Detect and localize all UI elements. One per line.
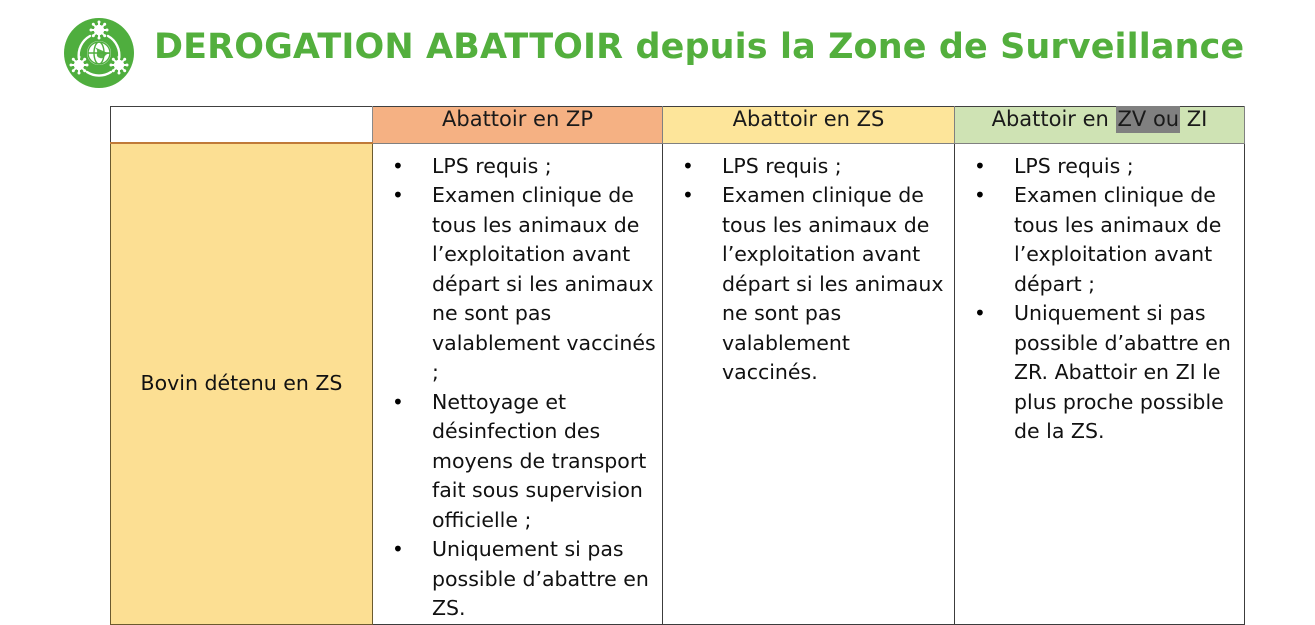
virus-globe-icon: [63, 17, 135, 89]
list-item: Examen clinique de tous les animaux de l…: [373, 181, 656, 388]
list-item: LPS requis ;: [955, 152, 1238, 182]
derogation-table-wrapper: Abattoir en ZP Abattoir en ZS Abattoir e…: [110, 106, 1244, 584]
header-cell-zs: Abattoir en ZS: [663, 107, 955, 144]
list-item: Examen clinique de tous les animaux de l…: [955, 181, 1238, 299]
list-item: Uniquement si pas possible d’abattre en …: [373, 535, 656, 624]
bullet-list-zs: LPS requis ; Examen clinique de tous les…: [663, 152, 954, 388]
list-item: LPS requis ;: [373, 152, 656, 182]
header-cell-zv-zi: Abattoir en ZV ou ZI: [955, 107, 1245, 144]
page-title: DEROGATION ABATTOIR depuis la Zone de Su…: [154, 24, 1244, 70]
list-item: LPS requis ;: [663, 152, 948, 182]
cell-zs: LPS requis ; Examen clinique de tous les…: [663, 143, 955, 624]
list-item: Nettoyage et désinfection des moyens de …: [373, 388, 656, 536]
header-zv-suffix: ZI: [1180, 107, 1207, 131]
derogation-table: Abattoir en ZP Abattoir en ZS Abattoir e…: [110, 106, 1245, 625]
bullet-list-zp: LPS requis ; Examen clinique de tous les…: [373, 152, 662, 624]
page-header: DEROGATION ABATTOIR depuis la Zone de Su…: [0, 0, 1315, 100]
table-row: Bovin détenu en ZS LPS requis ; Examen c…: [111, 143, 1245, 624]
cell-zv-zi: LPS requis ; Examen clinique de tous les…: [955, 143, 1245, 624]
list-item: Uniquement si pas possible d’abattre en …: [955, 299, 1238, 447]
row-label-bovin-zs: Bovin détenu en ZS: [111, 143, 373, 624]
header-cell-zp: Abattoir en ZP: [373, 107, 663, 144]
cell-zp: LPS requis ; Examen clinique de tous les…: [373, 143, 663, 624]
table-header-row: Abattoir en ZP Abattoir en ZS Abattoir e…: [111, 107, 1245, 144]
list-item: Examen clinique de tous les animaux de l…: [663, 181, 948, 388]
header-zv-highlight: ZV ou: [1116, 106, 1181, 133]
header-cell-empty: [111, 107, 373, 144]
bullet-list-zv-zi: LPS requis ; Examen clinique de tous les…: [955, 152, 1244, 447]
header-zv-prefix: Abattoir en: [992, 107, 1116, 131]
